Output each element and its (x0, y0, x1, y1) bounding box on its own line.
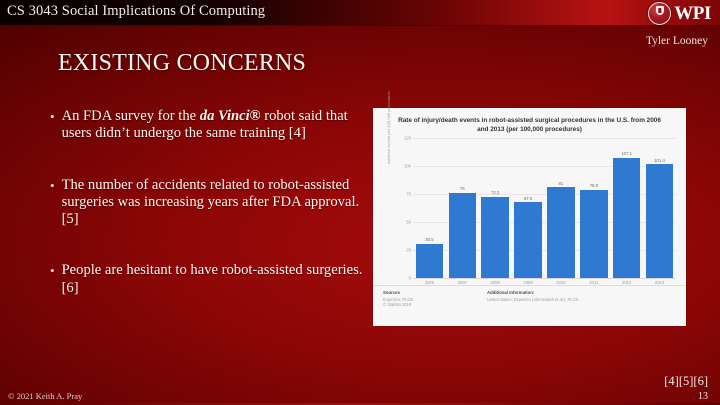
bar-column[interactable]: 30.5 (416, 138, 444, 278)
bullet-text: People are hesitant to have robot-assist… (62, 262, 370, 297)
y-tick-label: 125 (404, 136, 411, 141)
y-axis-ticks: 0255075100125 (391, 138, 411, 278)
author-name: Tyler Looney (646, 35, 708, 47)
list-item: • The number of accidents related to rob… (50, 177, 370, 229)
list-item: • People are hesitant to have robot-assi… (50, 262, 370, 297)
bar[interactable] (514, 202, 542, 278)
wpi-seal-icon (648, 2, 671, 25)
slide-banner: CS 3043 Social Implications Of Computing (0, 0, 720, 26)
bar-value-label: 76 (460, 186, 465, 191)
bar-value-label: 78.8 (590, 183, 598, 188)
copyright-notice: © 2021 Keith A. Pray (8, 391, 82, 401)
bullet-text: An FDA survey for the da Vinci® robot sa… (62, 108, 370, 143)
bar[interactable] (580, 190, 608, 278)
bar-column[interactable]: 76 (449, 138, 477, 278)
wpi-logo-label: WPI (674, 4, 711, 23)
bullet-marker-icon: • (50, 262, 55, 279)
course-title: CS 3043 Social Implications Of Computing (7, 3, 265, 20)
bar-value-label: 67.5 (524, 196, 532, 201)
bar-column[interactable]: 72.3 (481, 138, 509, 278)
additional-lines: United States; Expertico (Alemzadeh et a… (487, 297, 578, 303)
bullet-text: The number of accidents related to robot… (62, 177, 370, 229)
bullet-list: • An FDA survey for the da Vinci® robot … (50, 108, 370, 331)
sources-lines: Expertico; PLOS© Statista 2018 (383, 297, 487, 308)
bar-value-label: 107.1 (621, 151, 632, 156)
chart-bars: 30.57672.367.58178.8107.1101.4 (413, 138, 676, 278)
chart-footer: Sources Expertico; PLOS© Statista 2018 A… (373, 285, 686, 326)
bar[interactable] (449, 193, 477, 278)
y-tick-label: 50 (406, 220, 411, 225)
additional-heading: Additional Information: (487, 290, 578, 295)
bar[interactable] (416, 244, 444, 278)
list-item: • An FDA survey for the da Vinci® robot … (50, 108, 370, 143)
slide-canvas: CS 3043 Social Implications Of Computing… (0, 0, 720, 405)
sources-heading: Sources (383, 290, 487, 295)
bar-value-label: 30.5 (425, 237, 433, 242)
y-tick-label: 100 (404, 164, 411, 169)
statista-bar-chart: Rate of injury/death events in robot-ass… (373, 108, 686, 326)
y-tick-label: 0 (409, 276, 411, 281)
bar-column[interactable]: 81 (547, 138, 575, 278)
page-number: 13 (698, 391, 708, 402)
bar-value-label: 81 (559, 181, 564, 186)
bar[interactable] (613, 158, 641, 278)
bullet-marker-icon: • (50, 177, 55, 194)
bullet-marker-icon: • (50, 108, 55, 125)
bar-value-label: 72.3 (491, 190, 499, 195)
bullet-emphasis: da Vinci® (200, 108, 261, 124)
chart-plot-area: Adverse events per 100,000 procedures 02… (379, 138, 678, 288)
bar-column[interactable]: 67.5 (514, 138, 542, 278)
bar[interactable] (481, 197, 509, 278)
chart-additional-info: Additional Information: United States; E… (487, 290, 578, 326)
bar-column[interactable]: 107.1 (613, 138, 641, 278)
page-title: EXISTING CONCERNS (58, 50, 306, 77)
y-tick-label: 25 (406, 248, 411, 253)
y-tick-label: 75 (406, 192, 411, 197)
chart-title: Rate of injury/death events in robot-ass… (373, 108, 686, 138)
bar[interactable] (646, 164, 674, 278)
bar-column[interactable]: 101.4 (646, 138, 674, 278)
bar[interactable] (547, 187, 575, 278)
reference-list: [4][5][6] (664, 374, 708, 389)
bar-value-label: 101.4 (654, 158, 665, 163)
chart-sources: Sources Expertico; PLOS© Statista 2018 (383, 290, 487, 326)
bar-column[interactable]: 78.8 (580, 138, 608, 278)
wpi-logo: WPI (648, 2, 711, 24)
